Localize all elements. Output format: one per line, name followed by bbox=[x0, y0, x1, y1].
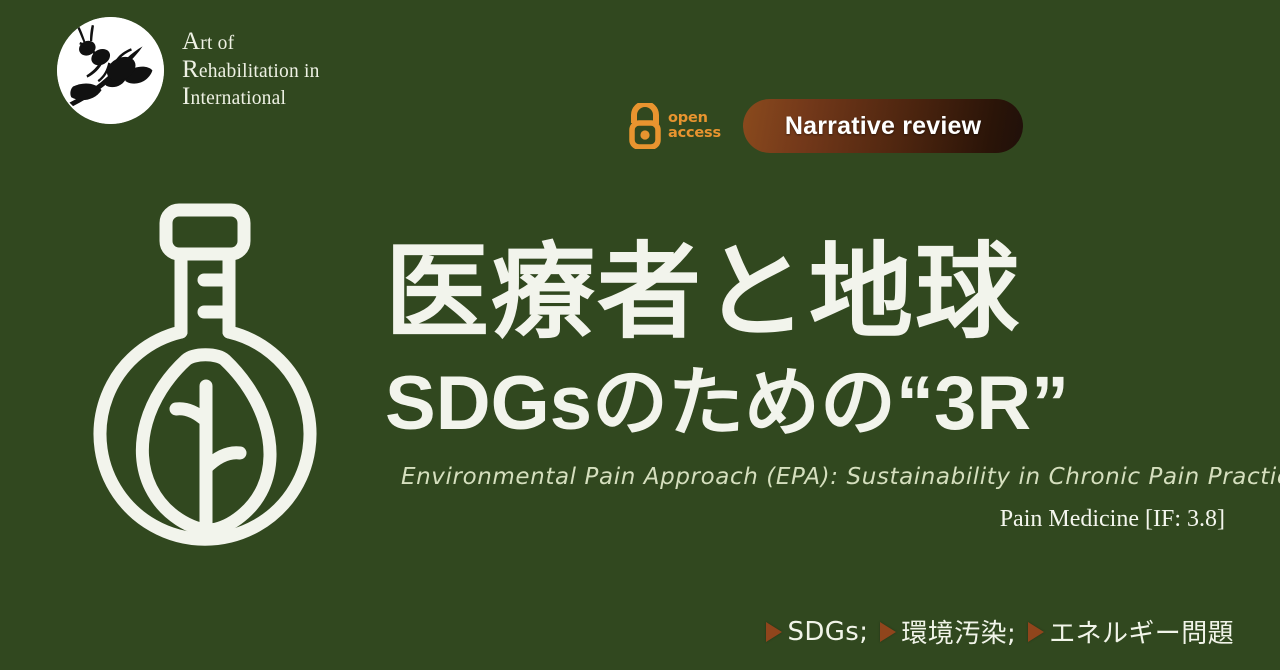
triangle-marker-icon bbox=[1028, 622, 1044, 642]
triangle-marker-icon bbox=[766, 622, 782, 642]
triangle-marker-icon bbox=[880, 622, 896, 642]
open-access-line-2: access bbox=[668, 126, 721, 141]
open-access-label: open access bbox=[668, 111, 721, 141]
journal-name-rest-2: ehabilitation in bbox=[199, 61, 320, 82]
flask-with-leaf-icon bbox=[88, 196, 338, 556]
journal-impact-factor: Pain Medicine [IF: 3.8] bbox=[385, 506, 1225, 533]
journal-name-line-2: Rehabilitation in bbox=[182, 57, 320, 85]
keyword-label: エネルギー問題 bbox=[1049, 613, 1234, 650]
keyword-list: SDGs; 環境汚染; エネルギー問題 bbox=[766, 613, 1240, 650]
journal-name-cap-3: I bbox=[182, 83, 191, 110]
english-subtitle: Environmental Pain Approach (EPA): Susta… bbox=[401, 464, 1245, 490]
open-padlock-icon bbox=[628, 103, 662, 149]
keyword-item: 環境汚染; bbox=[880, 613, 1016, 650]
poster-canvas: Art of Rehabilitation in International o… bbox=[0, 0, 1280, 670]
keyword-item: エネルギー問題 bbox=[1028, 613, 1234, 650]
open-access-line-1: open bbox=[668, 111, 721, 126]
journal-name-cap-1: A bbox=[182, 28, 200, 55]
journal-name-rest-1: rt of bbox=[200, 33, 234, 54]
open-access-logo: open access bbox=[628, 103, 721, 149]
article-type-badge[interactable]: Narrative review bbox=[743, 99, 1023, 153]
journal-name-rest-3: nternational bbox=[191, 88, 287, 109]
keyword-item: SDGs; bbox=[766, 617, 868, 647]
journal-name-line-1: Art of bbox=[182, 29, 320, 57]
journal-name-line-3: International bbox=[182, 84, 320, 112]
open-access-row: open access Narrative review bbox=[628, 99, 1023, 153]
page-subtitle: SDGsのための“3R” bbox=[385, 362, 1245, 446]
page-title: 医療者と地球 bbox=[385, 236, 1245, 348]
journal-name: Art of Rehabilitation in International bbox=[182, 29, 320, 113]
title-block: 医療者と地球 SDGsのための“3R” Environmental Pain A… bbox=[385, 236, 1245, 533]
journal-name-cap-2: R bbox=[182, 56, 199, 83]
keyword-label: SDGs; bbox=[787, 617, 868, 647]
keyword-label: 環境汚染; bbox=[901, 613, 1016, 650]
journal-logo: Art of Rehabilitation in International bbox=[57, 17, 320, 124]
ant-logo-icon bbox=[57, 17, 164, 124]
